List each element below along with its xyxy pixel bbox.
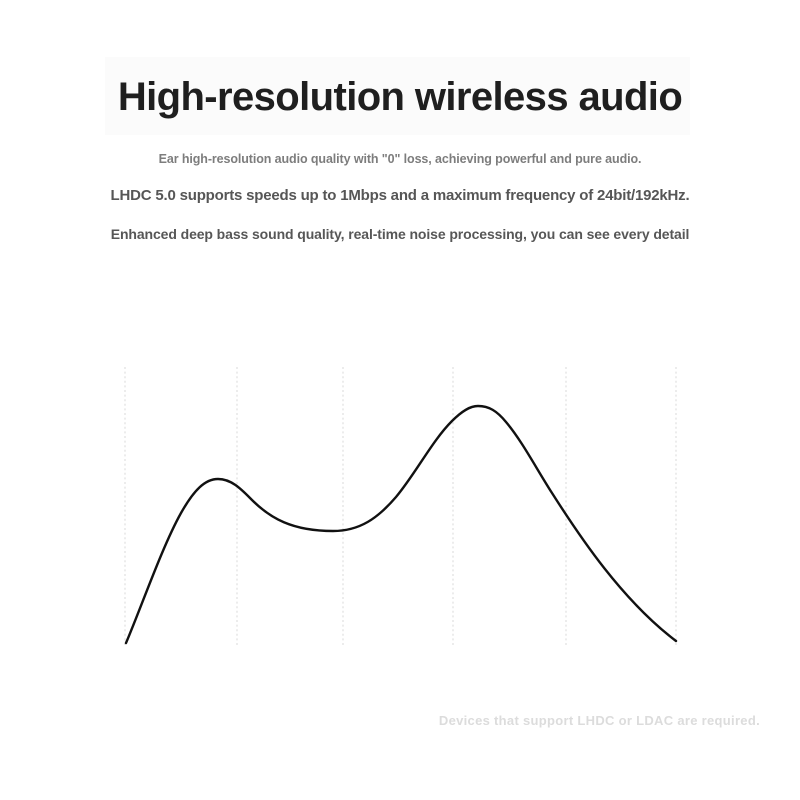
frequency-response-chart xyxy=(0,0,800,800)
promo-page: High-resolution wireless audio Ear high-… xyxy=(0,0,800,800)
frequency-response-curve xyxy=(126,406,676,643)
chart-gridlines xyxy=(125,367,676,645)
compatibility-footnote: Devices that support LHDC or LDAC are re… xyxy=(0,713,760,728)
